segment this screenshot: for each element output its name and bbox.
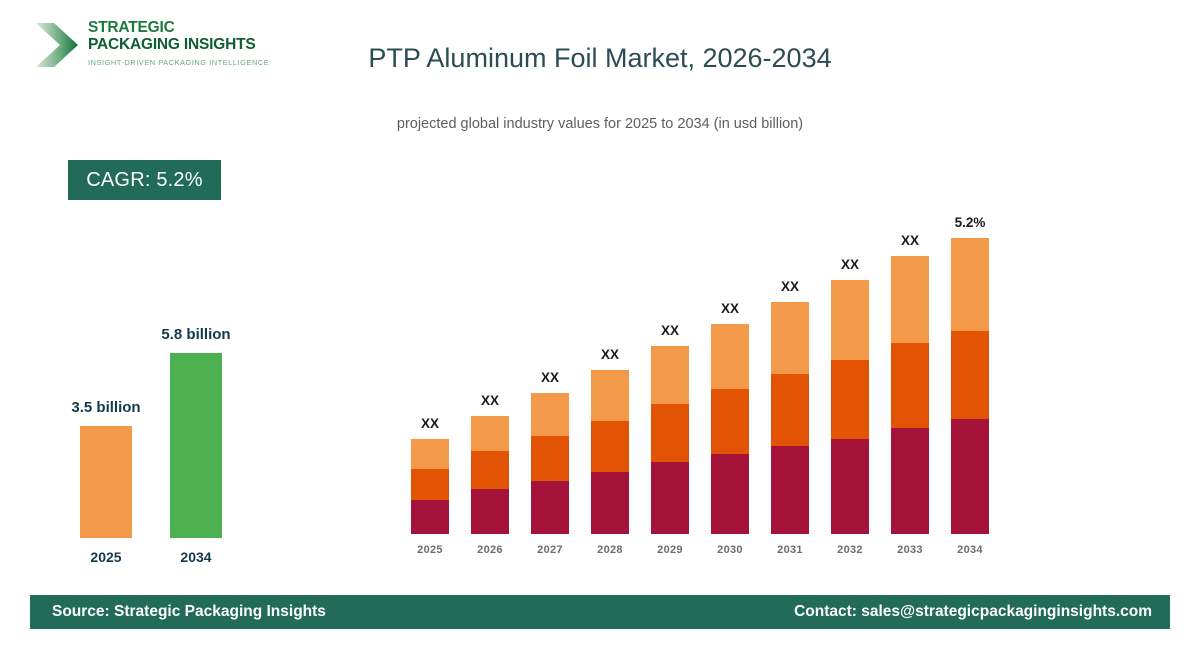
- footer-contact-text: Contact: sales@strategicpackaginginsight…: [794, 603, 1152, 621]
- page-title: PTP Aluminum Foil Market, 2026-2034: [200, 43, 1000, 74]
- stacked-bar-segment: [771, 302, 809, 374]
- infographic-page: STRATEGIC PACKAGING INSIGHTS INSIGHT-DRI…: [0, 0, 1200, 650]
- stacked-bar-segment: [951, 419, 989, 534]
- cagr-badge: CAGR: 5.2%: [68, 160, 221, 200]
- stacked-bar-column: XX2032: [820, 200, 880, 560]
- comparison-bar-chart: 3.5 billion20255.8 billion2034: [55, 320, 295, 570]
- logo-line-1: STRATEGIC: [88, 19, 278, 36]
- stacked-bar-segment: [651, 404, 689, 462]
- stacked-bar-segment: [531, 393, 569, 436]
- stacked-bar-segment: [891, 256, 929, 343]
- stacked-bar-segment: [411, 439, 449, 469]
- stacked-bar-column: XX2029: [640, 200, 700, 560]
- stacked-bar-top-label: XX: [820, 257, 880, 272]
- stacked-bar-top-label: 5.2%: [940, 215, 1000, 230]
- stacked-bar: [771, 302, 809, 534]
- stacked-bar-top-label: XX: [580, 347, 640, 362]
- stacked-bar-segment: [891, 428, 929, 534]
- stacked-bar-column: XX2033: [880, 200, 940, 560]
- stacked-bar-axis-label: 2029: [640, 544, 700, 556]
- stacked-bar-segment: [411, 500, 449, 534]
- stacked-bar-top-label: XX: [400, 416, 460, 431]
- stacked-bar-segment: [951, 331, 989, 419]
- stacked-bar-axis-label: 2030: [700, 544, 760, 556]
- stacked-bar: [951, 238, 989, 534]
- stacked-bar-segment: [591, 472, 629, 534]
- stacked-bar-segment: [771, 374, 809, 446]
- stacked-bar: [531, 393, 569, 534]
- stacked-bar: [591, 370, 629, 534]
- stacked-bar-axis-label: 2033: [880, 544, 940, 556]
- stacked-bar-segment: [471, 489, 509, 534]
- stacked-bar-top-label: XX: [700, 301, 760, 316]
- stacked-bar-segment: [471, 451, 509, 489]
- stacked-bar: [471, 416, 509, 534]
- comparison-bar-label: 2025: [56, 549, 156, 565]
- stacked-bar-segment: [471, 416, 509, 451]
- stacked-bar-axis-label: 2026: [460, 544, 520, 556]
- comparison-bar-value: 5.8 billion: [116, 326, 276, 343]
- stacked-bar-segment: [891, 343, 929, 428]
- stacked-bar-segment: [951, 238, 989, 331]
- stacked-bar-column: XX2028: [580, 200, 640, 560]
- stacked-bar-segment: [591, 370, 629, 421]
- stacked-bar-segment: [531, 436, 569, 481]
- stacked-bar-axis-label: 2027: [520, 544, 580, 556]
- stacked-bar: [831, 280, 869, 534]
- stacked-bar-segment: [711, 324, 749, 389]
- stacked-bar-segment: [711, 389, 749, 454]
- stacked-bar-segment: [591, 421, 629, 472]
- stacked-bar: [411, 439, 449, 534]
- comparison-bar: [170, 353, 222, 538]
- stacked-bar-segment: [831, 360, 869, 439]
- comparison-bar: [80, 426, 132, 538]
- comparison-bar-value: 3.5 billion: [26, 399, 186, 416]
- stacked-bar-segment: [831, 439, 869, 534]
- page-subtitle: projected global industry values for 202…: [200, 116, 1000, 132]
- stacked-bar-axis-label: 2028: [580, 544, 640, 556]
- stacked-bar-top-label: XX: [880, 233, 940, 248]
- footer-source-text: Source: Strategic Packaging Insights: [52, 603, 326, 621]
- stacked-bar-segment: [651, 346, 689, 404]
- stacked-bar-segment: [771, 446, 809, 534]
- comparison-bar-label: 2034: [146, 549, 246, 565]
- stacked-bar-column: 5.2%2034: [940, 200, 1000, 560]
- stacked-bar-column: XX2025: [400, 200, 460, 560]
- stacked-bar: [711, 324, 749, 534]
- stacked-bar-column: XX2031: [760, 200, 820, 560]
- stacked-bar-axis-label: 2032: [820, 544, 880, 556]
- footer-bar: Source: Strategic Packaging Insights Con…: [30, 595, 1170, 629]
- stacked-bar-column: XX2030: [700, 200, 760, 560]
- stacked-bar-column: XX2027: [520, 200, 580, 560]
- chevron-right-icon: [34, 20, 80, 70]
- stacked-bar-segment: [651, 462, 689, 534]
- stacked-bar-segment: [411, 469, 449, 500]
- stacked-bar: [891, 256, 929, 534]
- stacked-bar-axis-label: 2034: [940, 544, 1000, 556]
- stacked-bar-top-label: XX: [460, 393, 520, 408]
- stacked-bar-segment: [711, 454, 749, 534]
- stacked-bar-segment: [831, 280, 869, 360]
- stacked-bar-chart: XX2025XX2026XX2027XX2028XX2029XX2030XX20…: [400, 200, 1020, 560]
- stacked-bar: [651, 346, 689, 534]
- stacked-bar-top-label: XX: [760, 279, 820, 294]
- stacked-bar-column: XX2026: [460, 200, 520, 560]
- stacked-bar-top-label: XX: [640, 323, 700, 338]
- stacked-bar-segment: [531, 481, 569, 534]
- stacked-bar-axis-label: 2031: [760, 544, 820, 556]
- stacked-bar-axis-label: 2025: [400, 544, 460, 556]
- stacked-bar-top-label: XX: [520, 370, 580, 385]
